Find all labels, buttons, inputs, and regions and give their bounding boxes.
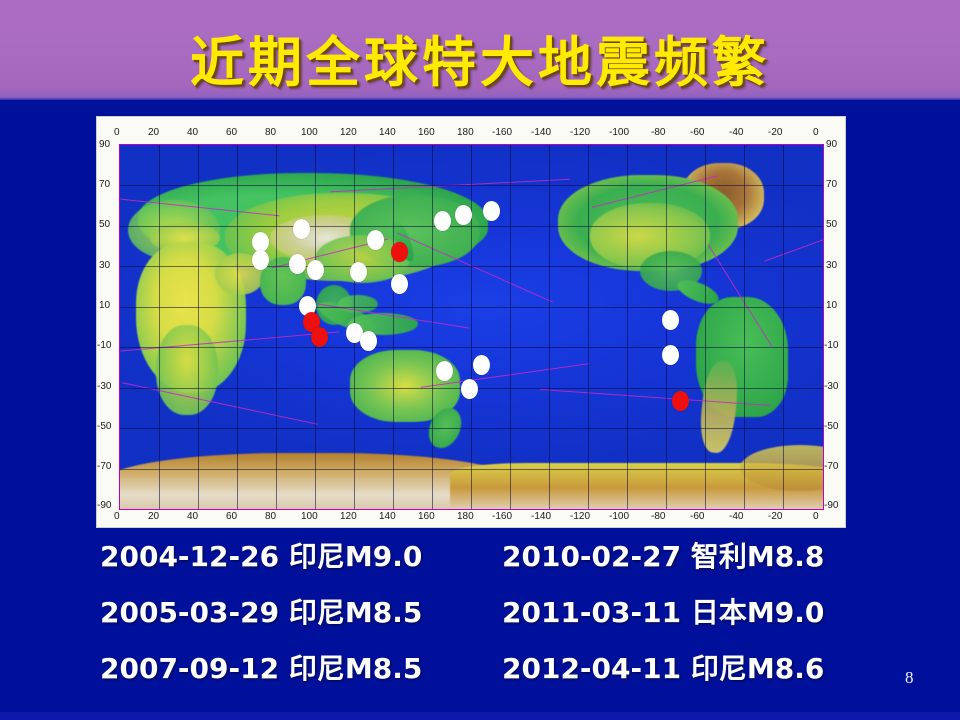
y-tick-left-6: -30 bbox=[97, 381, 111, 392]
y-tick-left-2: 50 bbox=[99, 219, 110, 230]
y-tick-right-8: -70 bbox=[824, 461, 838, 472]
earthquake-marker bbox=[307, 260, 324, 280]
earthquake-marker bbox=[252, 232, 269, 252]
x-tick-top-15: -60 bbox=[690, 127, 704, 138]
x-tick-top-0: 0 bbox=[114, 127, 120, 138]
x-tick-bot-16: -40 bbox=[729, 511, 743, 522]
x-tick-bot-2: 40 bbox=[187, 511, 198, 522]
y-tick-left-7: -50 bbox=[97, 421, 111, 432]
x-tick-bot-13: -100 bbox=[609, 511, 629, 522]
x-tick-bot-17: -20 bbox=[768, 511, 782, 522]
x-tick-top-1: 20 bbox=[148, 127, 159, 138]
x-tick-bot-10: -160 bbox=[492, 511, 512, 522]
earthquake-marker bbox=[367, 230, 384, 250]
x-tick-top-8: 160 bbox=[418, 127, 435, 138]
y-tick-left-1: 70 bbox=[99, 179, 110, 190]
x-tick-top-4: 80 bbox=[265, 127, 276, 138]
x-tick-top-6: 120 bbox=[340, 127, 357, 138]
x-tick-bot-14: -80 bbox=[651, 511, 665, 522]
x-tick-bot-9: 180 bbox=[457, 511, 474, 522]
y-tick-right-7: -50 bbox=[824, 421, 838, 432]
bottom-accent-line bbox=[0, 712, 960, 720]
x-tick-top-3: 60 bbox=[226, 127, 237, 138]
quake-entry-right-0: 2010-02-27 智利M8.8 bbox=[502, 535, 824, 575]
y-tick-right-9: -90 bbox=[824, 500, 838, 511]
earthquake-marker bbox=[434, 211, 451, 231]
list-row: 2007-09-12 印尼M8.5 2012-04-11 印尼M8.6 bbox=[0, 647, 960, 699]
x-tick-top-16: -40 bbox=[729, 127, 743, 138]
y-tick-left-0: 90 bbox=[99, 139, 110, 150]
earthquake-marker bbox=[289, 254, 306, 274]
earthquake-marker bbox=[360, 331, 377, 351]
y-tick-right-1: 70 bbox=[826, 179, 837, 190]
earthquake-marker bbox=[473, 355, 490, 375]
y-tick-left-4: 10 bbox=[99, 300, 110, 311]
earthquake-marker bbox=[391, 242, 408, 262]
y-tick-left-5: -10 bbox=[97, 340, 111, 351]
quake-entry-right-1: 2011-03-11 日本M9.0 bbox=[502, 591, 824, 631]
x-tick-bot-8: 160 bbox=[418, 511, 435, 522]
quake-entry-right-2: 2012-04-11 印尼M8.6 bbox=[502, 647, 824, 687]
x-tick-top-11: -140 bbox=[531, 127, 551, 138]
quake-entry-left-1: 2005-03-29 印尼M8.5 bbox=[100, 591, 422, 631]
x-tick-bot-6: 120 bbox=[340, 511, 357, 522]
x-tick-bot-12: -120 bbox=[570, 511, 590, 522]
y-tick-right-0: 90 bbox=[826, 139, 837, 150]
x-tick-bot-18: 0 bbox=[813, 511, 819, 522]
x-tick-bot-0: 0 bbox=[114, 511, 120, 522]
earthquake-marker bbox=[662, 345, 679, 365]
y-tick-right-4: 10 bbox=[826, 300, 837, 311]
x-tick-top-9: 180 bbox=[457, 127, 474, 138]
slide-root: 近期全球特大地震频繁 0 20 40 60 80 100 120 140 160… bbox=[0, 0, 960, 720]
x-tick-bot-15: -60 bbox=[690, 511, 704, 522]
y-tick-right-6: -30 bbox=[824, 381, 838, 392]
earthquake-marker bbox=[483, 201, 500, 221]
earthquake-list: 2004-12-26 印尼M9.0 2010-02-27 智利M8.8 2005… bbox=[0, 535, 960, 705]
y-tick-right-3: 30 bbox=[826, 260, 837, 271]
x-tick-bot-7: 140 bbox=[379, 511, 396, 522]
quake-entry-left-0: 2004-12-26 印尼M9.0 bbox=[100, 535, 422, 575]
x-tick-top-12: -120 bbox=[570, 127, 590, 138]
x-tick-top-2: 40 bbox=[187, 127, 198, 138]
y-tick-left-3: 30 bbox=[99, 260, 110, 271]
earthquake-marker bbox=[391, 274, 408, 294]
earthquake-marker bbox=[436, 361, 453, 381]
x-tick-bot-11: -140 bbox=[531, 511, 551, 522]
list-row: 2005-03-29 印尼M8.5 2011-03-11 日本M9.0 bbox=[0, 591, 960, 643]
x-tick-top-14: -80 bbox=[651, 127, 665, 138]
page-number: 8 bbox=[905, 668, 914, 688]
earthquake-marker bbox=[311, 327, 328, 347]
y-tick-left-9: -90 bbox=[97, 500, 111, 511]
x-tick-bot-1: 20 bbox=[148, 511, 159, 522]
x-tick-bot-3: 60 bbox=[226, 511, 237, 522]
title-bar: 近期全球特大地震频繁 bbox=[0, 0, 960, 100]
x-tick-top-10: -160 bbox=[492, 127, 512, 138]
x-tick-top-18: 0 bbox=[813, 127, 819, 138]
page-title: 近期全球特大地震频繁 bbox=[0, 18, 960, 97]
earthquake-marker bbox=[252, 250, 269, 270]
y-tick-right-2: 50 bbox=[826, 219, 837, 230]
list-row: 2004-12-26 印尼M9.0 2010-02-27 智利M8.8 bbox=[0, 535, 960, 587]
y-tick-left-8: -70 bbox=[97, 461, 111, 472]
x-tick-bot-5: 100 bbox=[301, 511, 318, 522]
x-tick-top-13: -100 bbox=[609, 127, 629, 138]
x-tick-top-5: 100 bbox=[301, 127, 318, 138]
x-tick-top-17: -20 bbox=[768, 127, 782, 138]
x-tick-bot-4: 80 bbox=[265, 511, 276, 522]
world-map-image bbox=[119, 144, 824, 510]
earthquake-marker bbox=[350, 262, 367, 282]
quake-entry-left-2: 2007-09-12 印尼M8.5 bbox=[100, 647, 422, 687]
world-map-panel: 0 20 40 60 80 100 120 140 160 180 -160 -… bbox=[97, 117, 845, 527]
x-tick-top-7: 140 bbox=[379, 127, 396, 138]
y-tick-right-5: -10 bbox=[824, 340, 838, 351]
